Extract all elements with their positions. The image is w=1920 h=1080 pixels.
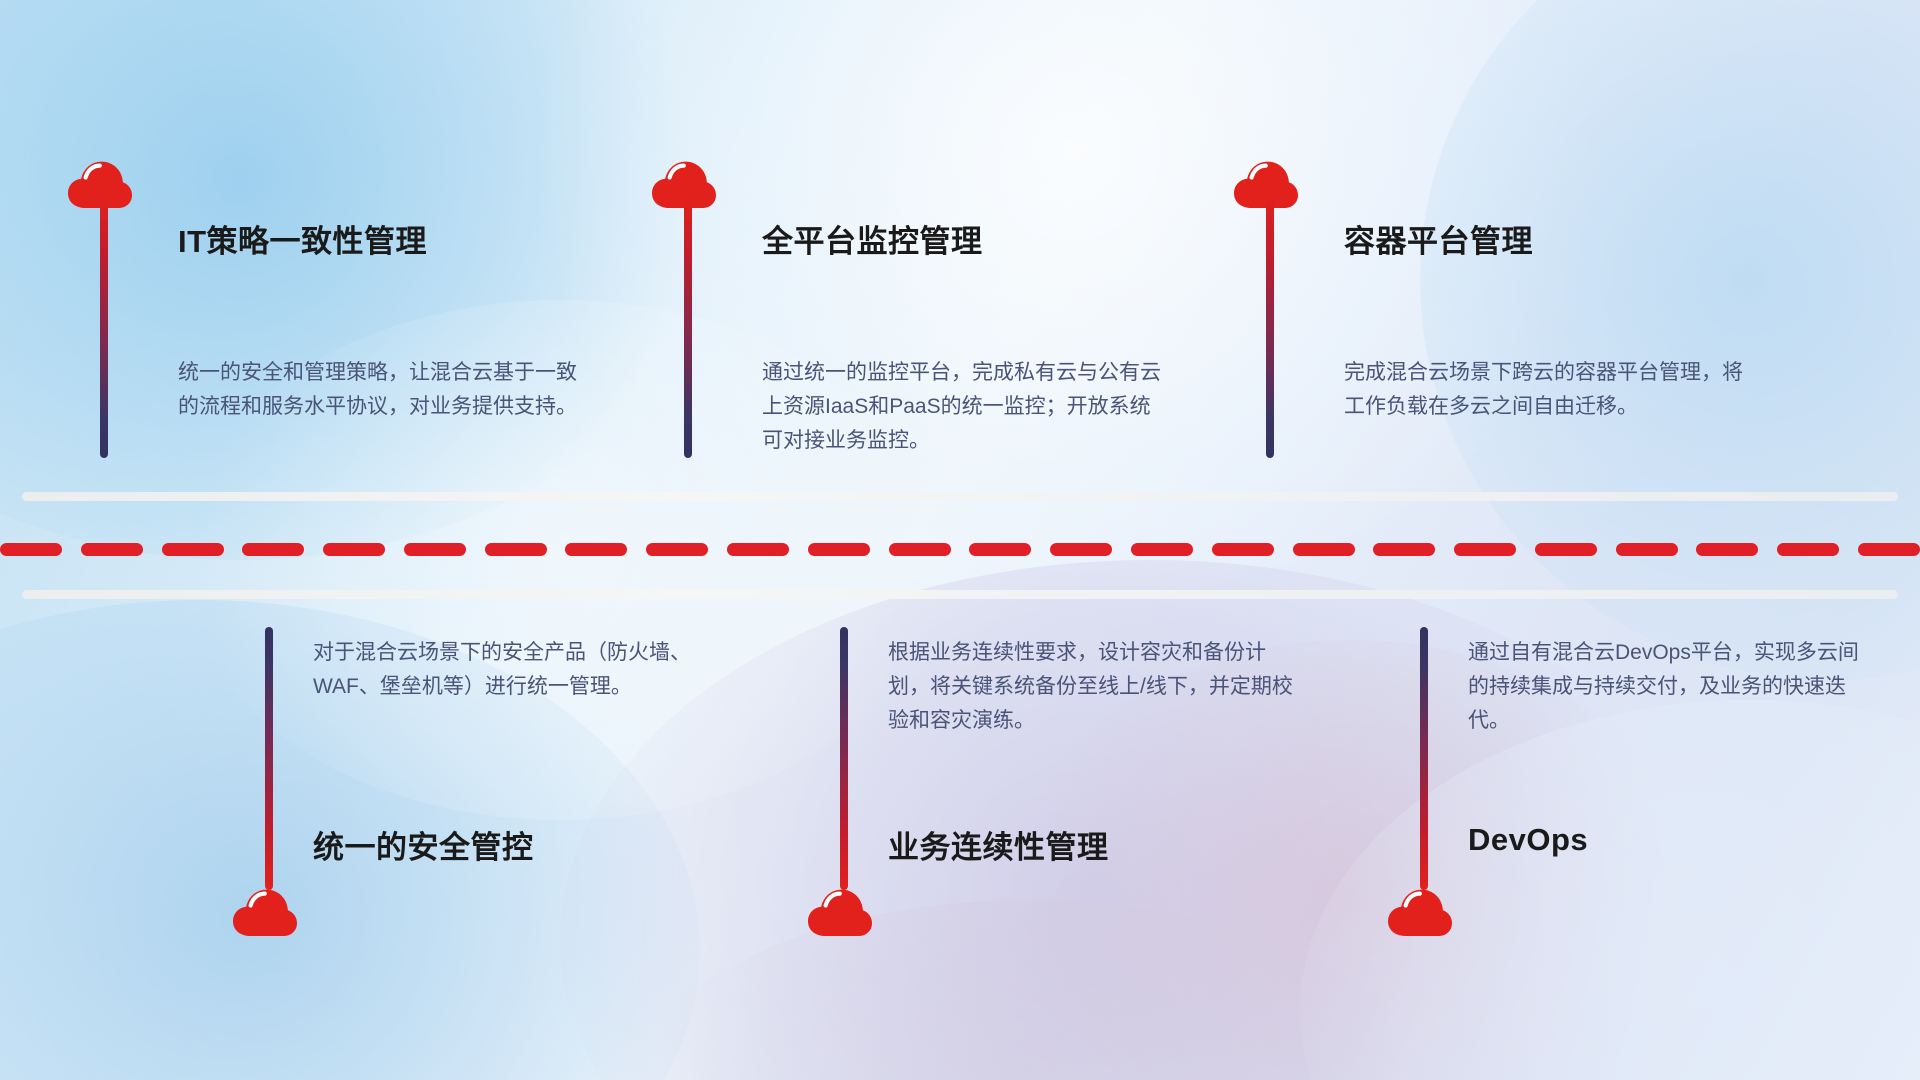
- dash-segment: [889, 543, 951, 556]
- bottom-column-2-body: 根据业务连续性要求，设计容灾和备份计划，将关键系统备份至线上/线下，并定期校验和…: [888, 636, 1293, 738]
- dash-segment: [1212, 543, 1274, 556]
- dash-segment: [1858, 543, 1920, 556]
- dash-segment: [808, 543, 870, 556]
- dash-segment: [242, 543, 304, 556]
- dash-segment: [1535, 543, 1597, 556]
- connector-stem: [1266, 196, 1274, 458]
- dash-segment: [969, 543, 1031, 556]
- connector-stem: [1420, 627, 1428, 890]
- dash-segment: [727, 543, 789, 556]
- top-column-1-body: 统一的安全和管理策略，让混合云基于一致的流程和服务水平协议，对业务提供支持。: [178, 356, 583, 424]
- dash-segment: [1616, 543, 1678, 556]
- dash-segment: [1131, 543, 1193, 556]
- dash-segment: [404, 543, 466, 556]
- dash-segment: [0, 543, 62, 556]
- background-bloom-blue-right: [1420, 0, 1920, 680]
- top-column-2-title: 全平台监控管理: [762, 216, 983, 261]
- dash-segment: [1777, 543, 1839, 556]
- connector-stem: [265, 627, 273, 890]
- bottom-column-1-body: 对于混合云场景下的安全产品（防火墙、WAF、堡垒机等）进行统一管理。: [313, 636, 718, 704]
- background-bloom-blue-topleft: [0, 0, 740, 560]
- top-column-3-title: 容器平台管理: [1344, 216, 1533, 261]
- dash-segment: [646, 543, 708, 556]
- bottom-column-2-title: 业务连续性管理: [888, 822, 1109, 867]
- divider-rule-upper: [22, 492, 1898, 501]
- dash-segment: [162, 543, 224, 556]
- top-column-1-title: IT策略一致性管理: [178, 216, 427, 261]
- dash-segment: [565, 543, 627, 556]
- bottom-column-3-title: DevOps: [1468, 822, 1588, 858]
- cloud-icon: [1387, 888, 1453, 938]
- top-column-2-body: 通过统一的监控平台，完成私有云与公有云上资源IaaS和PaaS的统一监控；开放系…: [762, 356, 1167, 458]
- bottom-column-3-body: 通过自有混合云DevOps平台，实现多云间的持续集成与持续交付，及业务的快速迭代…: [1468, 636, 1873, 738]
- connector-stem: [100, 196, 108, 458]
- cloud-icon: [232, 888, 298, 938]
- dash-segment: [81, 543, 143, 556]
- divider-rule-dashed: [0, 543, 1920, 556]
- dash-segment: [323, 543, 385, 556]
- connector-stem: [684, 196, 692, 458]
- top-column-3-body: 完成混合云场景下跨云的容器平台管理，将工作负载在多云之间自由迁移。: [1344, 356, 1749, 424]
- bottom-column-1-title: 统一的安全管控: [313, 822, 534, 867]
- dash-segment: [1454, 543, 1516, 556]
- infographic-canvas: IT策略一致性管理 统一的安全和管理策略，让混合云基于一致的流程和服务水平协议，…: [0, 0, 1920, 1080]
- background-bloom-warm-bottom: [620, 900, 1440, 1080]
- dash-segment: [1050, 543, 1112, 556]
- dash-segment: [1293, 543, 1355, 556]
- dash-segment: [485, 543, 547, 556]
- divider-rule-lower: [22, 590, 1898, 599]
- cloud-icon: [807, 888, 873, 938]
- connector-stem: [840, 627, 848, 890]
- dash-segment: [1696, 543, 1758, 556]
- dash-segment: [1373, 543, 1435, 556]
